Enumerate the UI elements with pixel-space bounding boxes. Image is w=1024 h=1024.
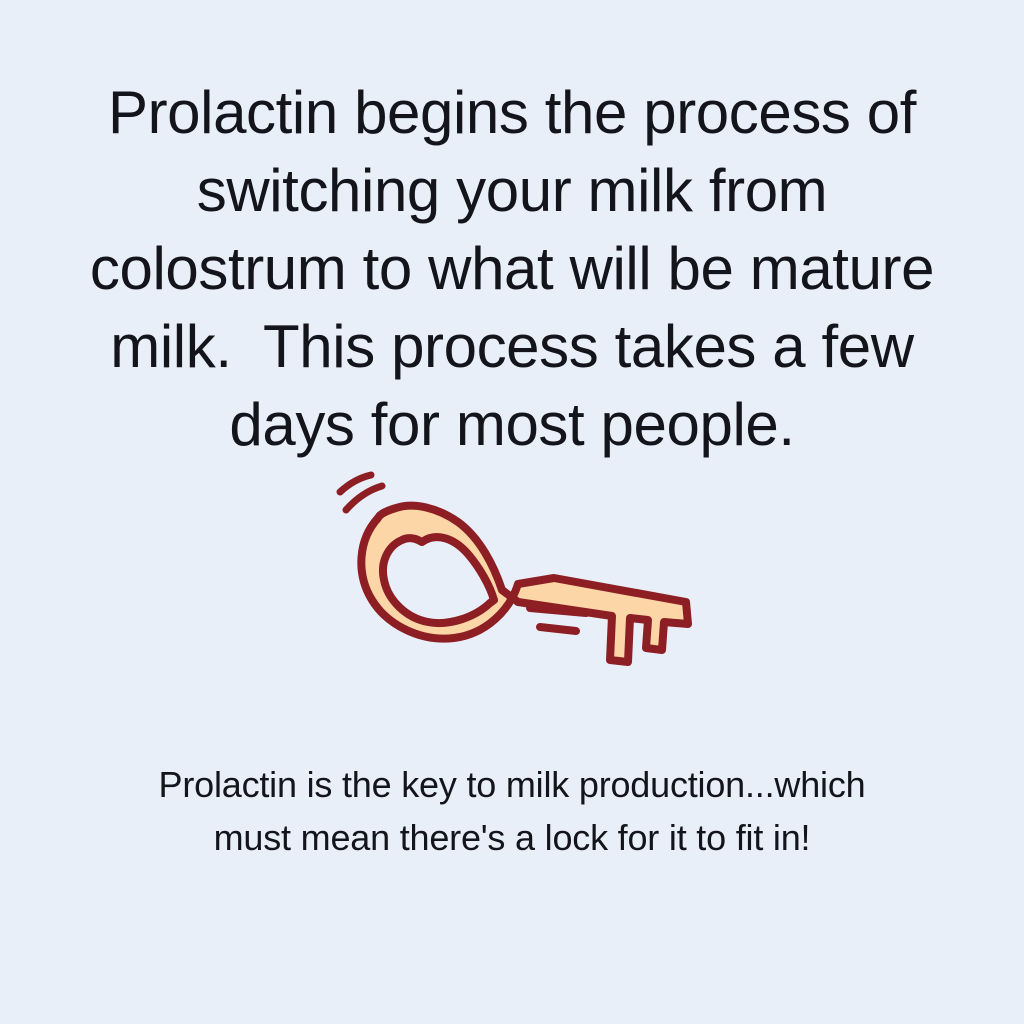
key-body bbox=[361, 506, 688, 662]
caption-text: Prolactin is the key to milk production.… bbox=[132, 758, 892, 864]
key-outline bbox=[361, 506, 688, 662]
speed-dashes bbox=[530, 608, 586, 631]
slide-canvas: Prolactin begins the process of switchin… bbox=[0, 0, 1024, 1024]
page-title: Prolactin begins the process of switchin… bbox=[62, 74, 962, 464]
heart-key-illustration bbox=[318, 462, 710, 674]
motion-arc-inner bbox=[346, 486, 382, 510]
speed-dash-upper bbox=[530, 608, 586, 613]
heart-key-icon bbox=[318, 462, 710, 674]
speed-dash-lower bbox=[540, 627, 576, 631]
